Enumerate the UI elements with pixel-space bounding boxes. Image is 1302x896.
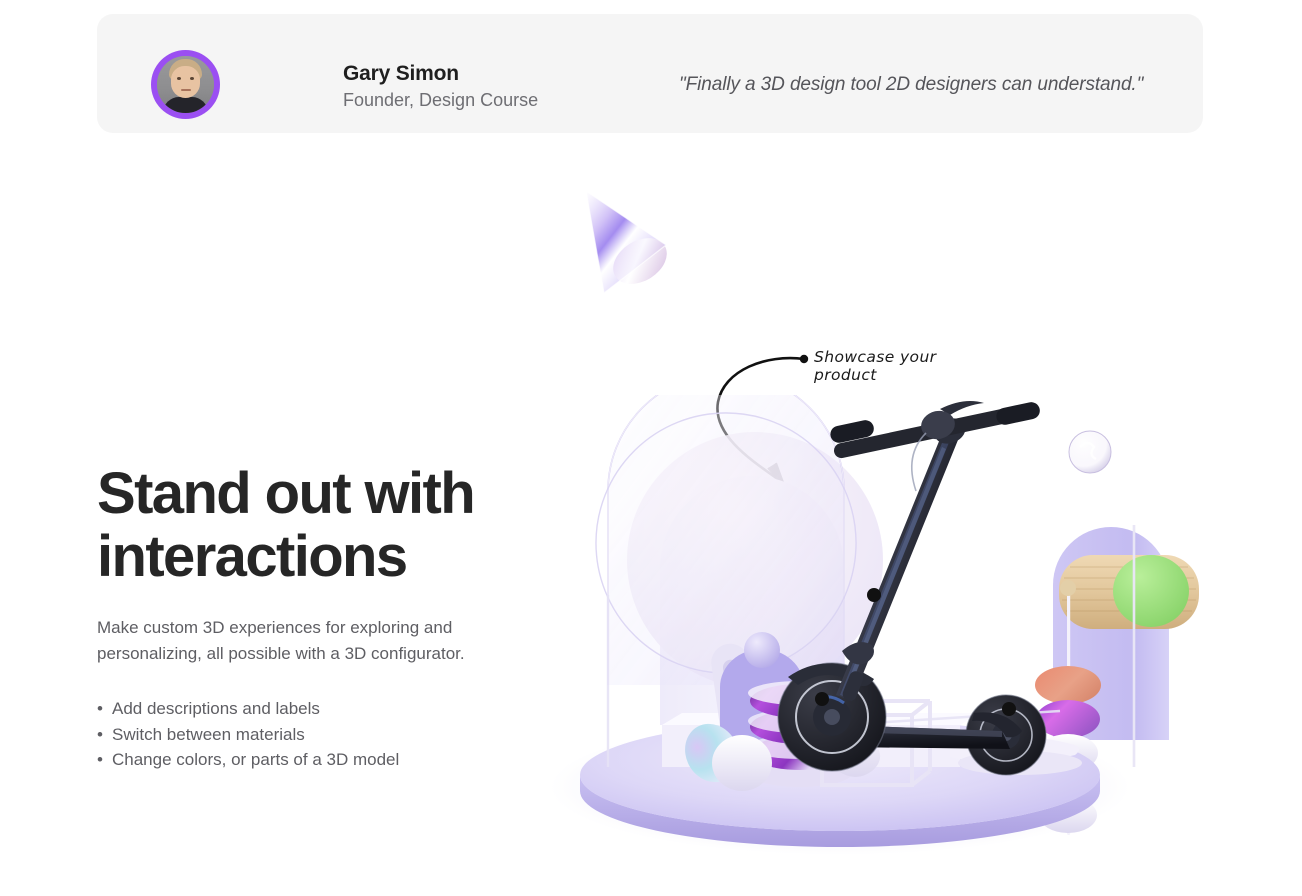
page-title: Stand out with interactions — [97, 462, 567, 588]
glass-cone-icon — [570, 185, 680, 305]
hotspot-dot — [815, 692, 829, 706]
person-block: Gary Simon Founder, Design Course — [343, 60, 538, 113]
avatar-mouth — [181, 89, 191, 91]
annotation-label-line-2: product — [814, 366, 877, 384]
bullet-icon: • — [97, 747, 103, 773]
hero-description: Make custom 3D experiences for exploring… — [97, 615, 527, 666]
testimonial-quote: "Finally a 3D design tool 2D designers c… — [679, 74, 1143, 96]
list-item: • Add descriptions and labels — [97, 696, 399, 722]
bullet-icon: • — [97, 722, 103, 748]
list-item-label: Change colors, or parts of a 3D model — [112, 750, 399, 769]
avatar-face — [171, 66, 200, 98]
avatar-eye-right — [190, 77, 194, 80]
avatar-shirt — [163, 97, 208, 113]
page-root: Gary Simon Founder, Design Course "Final… — [0, 0, 1302, 896]
list-item: • Switch between materials — [97, 722, 399, 748]
headline-line-1: Stand out with — [97, 461, 474, 526]
person-name: Gary Simon — [343, 60, 538, 87]
avatar-image — [157, 56, 214, 113]
testimonial-card: Gary Simon Founder, Design Course "Final… — [97, 14, 1203, 133]
glass-bubble — [1069, 431, 1111, 473]
avatar-eye-left — [177, 77, 181, 80]
list-item-label: Switch between materials — [112, 725, 305, 744]
annotation-label: Showcase your product — [814, 348, 954, 384]
list-item-label: Add descriptions and labels — [112, 699, 320, 718]
glass-cone-logo — [570, 185, 680, 305]
headline-line-2: interactions — [97, 524, 407, 589]
list-item: • Change colors, or parts of a 3D model — [97, 747, 399, 773]
wood-slab — [1059, 555, 1199, 629]
avatar — [151, 50, 220, 119]
hotspot-dot — [867, 588, 881, 602]
feature-list: • Add descriptions and labels • Switch b… — [97, 696, 399, 773]
annotation-label-line-1: Showcase your — [814, 348, 936, 366]
hotspot-dot — [1002, 702, 1016, 716]
bullet-icon: • — [97, 696, 103, 722]
scooter-scene-illustration — [540, 395, 1200, 865]
product-3d-scene[interactable] — [540, 395, 1200, 865]
person-role: Founder, Design Course — [343, 88, 538, 113]
